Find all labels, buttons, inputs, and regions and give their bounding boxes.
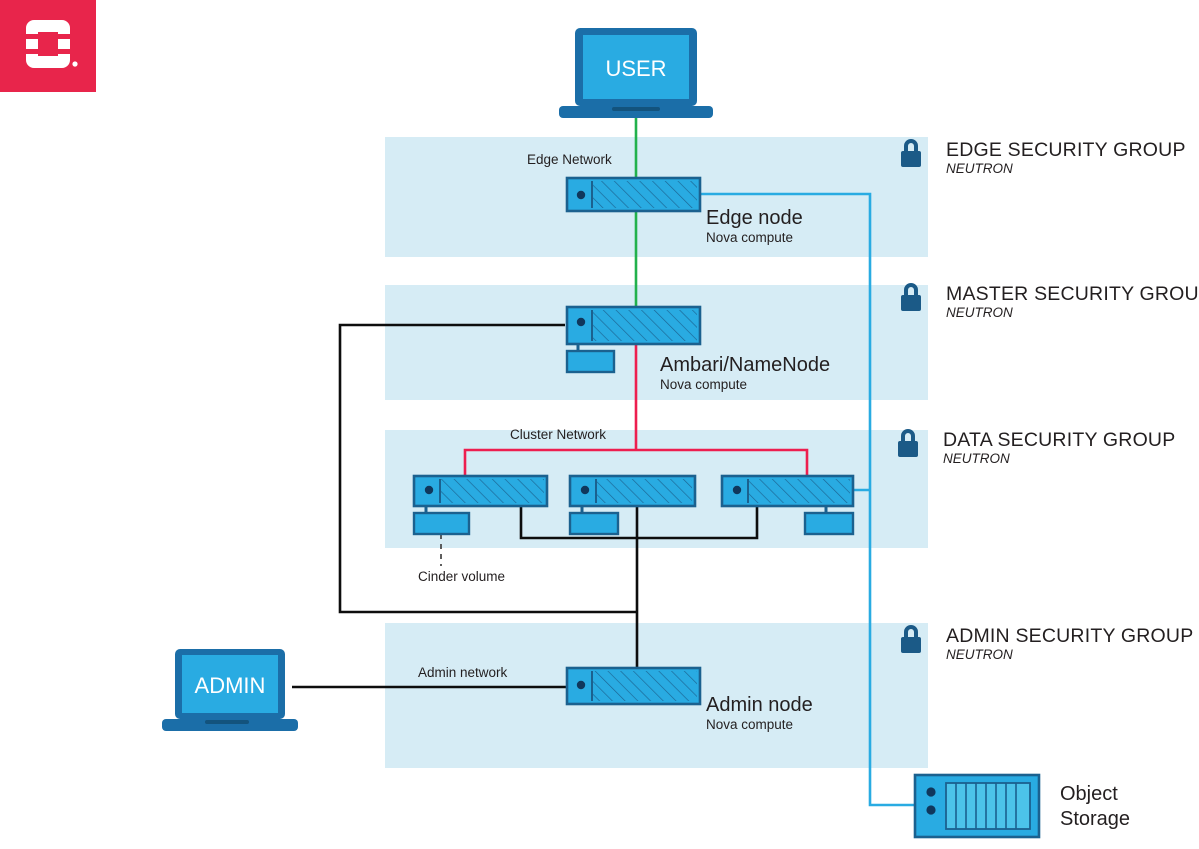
admin-laptop-label: ADMIN xyxy=(175,673,285,699)
security-group-label-admin: ADMIN SECURITY GROUP NEUTRON xyxy=(946,626,1193,662)
cluster-network-label: Cluster Network xyxy=(510,427,606,442)
object-storage-line2: Storage xyxy=(1060,807,1130,832)
data-node-2-volume-icon xyxy=(570,513,618,534)
cinder-volume-label: Cinder volume xyxy=(418,569,505,584)
edge-node-icon xyxy=(567,178,700,211)
security-group-label-edge: EDGE SECURITY GROUP NEUTRON xyxy=(946,140,1186,176)
admin-node-label: Admin node Nova compute xyxy=(706,694,813,733)
object-storage-line1: Object xyxy=(1060,782,1130,807)
security-group-subtitle-data: NEUTRON xyxy=(943,451,1175,466)
security-group-subtitle-master: NEUTRON xyxy=(946,305,1199,320)
security-group-title-admin: ADMIN SECURITY GROUP xyxy=(946,626,1193,646)
architecture-diagram xyxy=(0,0,1199,849)
edge-node-label: Edge node Nova compute xyxy=(706,207,803,246)
data-node-1-volume-icon xyxy=(414,513,469,534)
security-group-label-data: DATA SECURITY GROUP NEUTRON xyxy=(943,430,1175,466)
edge-node-subtitle: Nova compute xyxy=(706,230,803,246)
admin-network-label: Admin network xyxy=(418,665,507,680)
admin-node-subtitle: Nova compute xyxy=(706,717,813,733)
object-storage-label: Object Storage xyxy=(1060,782,1130,832)
security-group-label-master: MASTER SECURITY GROUP NEUTRON xyxy=(946,284,1199,320)
admin-node-title: Admin node xyxy=(706,694,813,716)
master-node-label: Ambari/NameNode Nova compute xyxy=(660,354,830,393)
security-group-subtitle-edge: NEUTRON xyxy=(946,161,1186,176)
master-volume-icon xyxy=(567,351,614,372)
security-group-title-data: DATA SECURITY GROUP xyxy=(943,430,1175,450)
edge-network-label: Edge Network xyxy=(527,152,612,167)
user-laptop-label: USER xyxy=(575,56,697,82)
security-group-subtitle-admin: NEUTRON xyxy=(946,647,1193,662)
openstack-logo xyxy=(0,0,96,92)
data-node-3-volume-icon xyxy=(805,513,853,534)
security-group-title-master: MASTER SECURITY GROUP xyxy=(946,284,1199,304)
security-group-title-edge: EDGE SECURITY GROUP xyxy=(946,140,1186,160)
master-node-subtitle: Nova compute xyxy=(660,377,830,393)
object-storage-icon xyxy=(915,775,1039,837)
edge-node-title: Edge node xyxy=(706,207,803,229)
admin-node-icon xyxy=(567,668,700,704)
master-node-title: Ambari/NameNode xyxy=(660,354,830,376)
